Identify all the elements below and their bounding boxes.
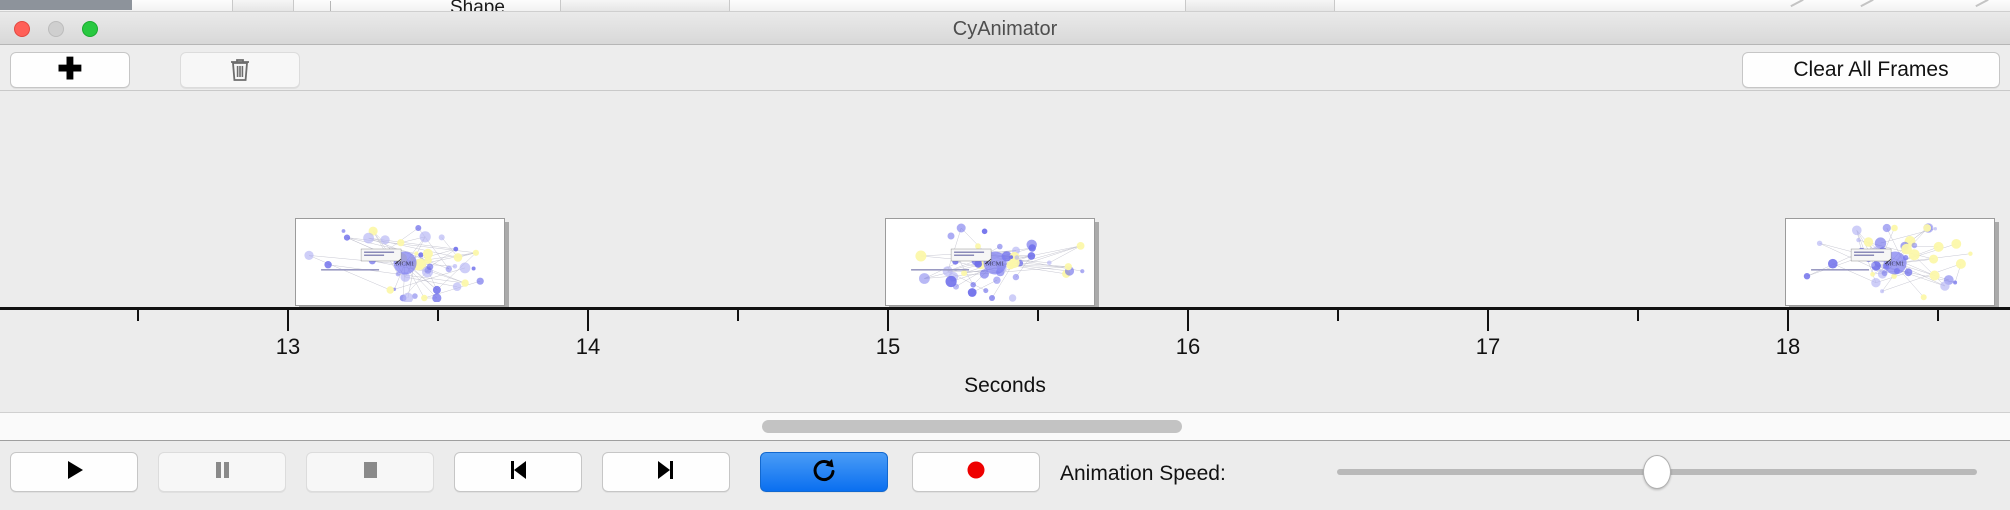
axis-tick [1637, 310, 1639, 321]
trash-icon [229, 57, 251, 83]
timeline-panel[interactable]: MCM1MCM1MCM1 2131415161718 Seconds [0, 91, 2010, 413]
axis-tick [1337, 310, 1339, 321]
clear-all-frames-button[interactable]: Clear All Frames [1742, 52, 2000, 88]
axis-tick [737, 310, 739, 321]
toolbar: ✚ Clear All Frames [0, 45, 2010, 91]
axis-tick [287, 310, 289, 331]
pause-icon [209, 457, 235, 488]
title-bar: CyAnimator [0, 12, 2010, 45]
loop-icon [810, 456, 838, 489]
loop-button[interactable] [760, 452, 888, 492]
delete-frame-button[interactable] [180, 52, 300, 88]
transport-bar: Animation Speed: [0, 442, 2010, 510]
axis-tick-label: 14 [576, 334, 600, 360]
axis-title: Seconds [0, 374, 2010, 398]
play-icon [61, 457, 87, 488]
add-frame-button[interactable]: ✚ [10, 52, 130, 88]
slider-thumb[interactable] [1643, 455, 1671, 489]
network-thumbnail-image: MCM1 [299, 222, 501, 302]
axis-tick [1037, 310, 1039, 321]
background-window-titlebar [0, 0, 132, 10]
axis-tick-label: 17 [1476, 334, 1500, 360]
skip-to-start-button[interactable] [454, 452, 582, 492]
frame-thumbnail-3[interactable]: MCM1 [1785, 218, 1995, 306]
axis-tick [137, 310, 139, 321]
window-title: CyAnimator [0, 18, 2010, 41]
skip-forward-icon [653, 457, 679, 488]
network-thumbnail-image: MCM1 [1789, 222, 1991, 302]
background-window-label: Shape [450, 0, 505, 12]
frame-thumbnail-1[interactable]: MCM1 [295, 218, 505, 306]
background-chip [232, 0, 294, 12]
timeline-scrollbar-thumb[interactable] [762, 420, 1182, 433]
record-icon [963, 457, 989, 488]
timeline-scrollbar[interactable] [0, 413, 2010, 441]
plus-icon: ✚ [57, 55, 82, 85]
skip-back-icon [505, 457, 531, 488]
axis-tick [1487, 310, 1489, 331]
animation-speed-slider[interactable] [1337, 452, 1977, 492]
timeline-axis-line [0, 307, 2010, 310]
axis-tick-label: 15 [876, 334, 900, 360]
frames-track[interactable]: MCM1MCM1MCM1 [0, 91, 2010, 310]
axis-tick-label: 13 [276, 334, 300, 360]
background-chip [1185, 0, 1335, 12]
axis-tick [1937, 310, 1939, 321]
play-button[interactable] [10, 452, 138, 492]
background-chip [560, 0, 730, 12]
record-button[interactable] [912, 452, 1040, 492]
skip-to-end-button[interactable] [602, 452, 730, 492]
cyanimator-window: Shape CyAnimator ✚ Clear All Frames MCM1… [0, 0, 2010, 510]
clear-all-frames-label: Clear All Frames [1793, 58, 1948, 82]
axis-tick [1787, 310, 1789, 331]
stop-button[interactable] [306, 452, 434, 492]
background-window-strip: Shape [0, 0, 2010, 12]
pause-button[interactable] [158, 452, 286, 492]
axis-tick [587, 310, 589, 331]
axis-tick [887, 310, 889, 331]
axis-tick-label: 16 [1176, 334, 1200, 360]
axis-tick [437, 310, 439, 321]
frame-thumbnail-2[interactable]: MCM1 [885, 218, 1095, 306]
animation-speed-label: Animation Speed: [1060, 462, 1226, 486]
axis-tick [1187, 310, 1189, 331]
network-thumbnail-image: MCM1 [889, 222, 1091, 302]
stop-icon [357, 457, 383, 488]
axis-tick-label: 18 [1776, 334, 1800, 360]
